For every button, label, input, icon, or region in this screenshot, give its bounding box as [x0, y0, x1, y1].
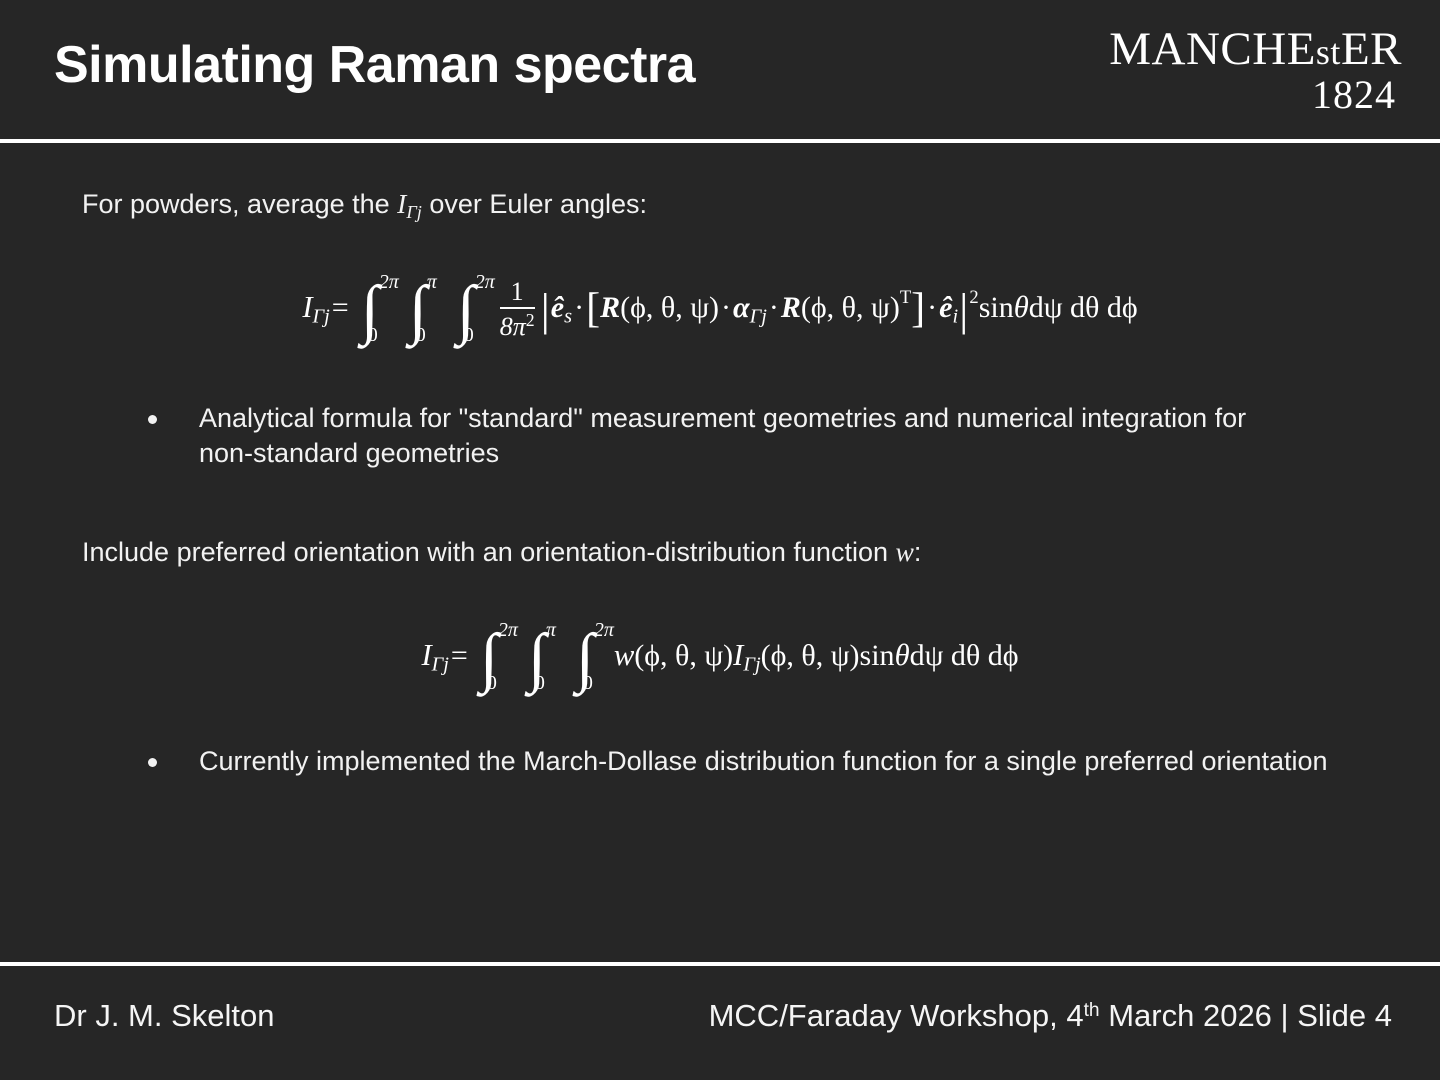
paragraph-powders: For powders, average the IΓj over Euler … [82, 185, 647, 225]
eq1-abs-open: | [541, 283, 550, 336]
eq1-polarizability: α [733, 291, 750, 324]
eq1-fraction-bar [500, 307, 535, 309]
eq2-integral-1-lower: 0 [487, 672, 497, 695]
eq1-integral-3-lower: 0 [464, 324, 474, 347]
eq1-dot-4: · [925, 291, 939, 324]
slide: Simulating Raman spectra MANCHEstER 1824… [0, 0, 1440, 1080]
paragraph-powders-before: For powders, average the [82, 189, 397, 219]
eq1-bracket-close: ] [911, 285, 925, 333]
slide-footer: Dr J. M. Skelton MCC/Faraday Workshop, 4… [0, 966, 1440, 1080]
eq2-integral-2-lower: 0 [535, 672, 545, 695]
eq2-integral-1: 2π∫0 [476, 621, 516, 695]
eq1-integral-1-upper: 2π [379, 271, 399, 294]
eq1-dot-3: · [767, 291, 781, 324]
eq1-integral-2-upper: π [427, 271, 437, 294]
logo-wordmark: MANCHEstER [1109, 26, 1402, 73]
eq2-equals: = [449, 639, 470, 672]
footer-event-ordinal: th [1084, 1000, 1100, 1021]
eq1-differentials: dψ dθ dϕ [1029, 291, 1138, 324]
eq1-fraction-denominator: 8π2 [500, 311, 535, 340]
eq1-e-incident: ê [939, 291, 952, 324]
footer-presenter: Dr J. M. Skelton [54, 998, 275, 1034]
eq1-theta: θ [1014, 290, 1029, 324]
equation-1-content: IΓj=2π∫0π∫02π∫018π2|ês·[R(ϕ, θ, ψ)·αΓj·R… [302, 273, 1137, 347]
eq1-fraction-denominator-base: 8π [500, 312, 526, 341]
eq1-prefactor-fraction: 18π2 [500, 278, 535, 340]
logo-word-part-1: M [1109, 23, 1151, 75]
eq1-lhs-subscript: Γj [313, 306, 330, 328]
eq2-integral-3-lower: 0 [583, 672, 593, 695]
footer-event-info: MCC/Faraday Workshop, 4th March 2026 | S… [709, 998, 1392, 1034]
eq1-sin: sin [979, 291, 1014, 324]
eq2-integral-2-upper: π [546, 619, 556, 642]
bullet-item-analytical-formula: Analytical formula for "standard" measur… [148, 401, 1278, 470]
eq1-fraction-numerator: 1 [500, 278, 535, 305]
paragraph-preferred-orientation-before: Include preferred orientation with an or… [82, 537, 895, 567]
eq1-rotation-matrix-2: R [781, 291, 801, 324]
equation-2-content: IΓj=2π∫0π∫02π∫0w(ϕ, θ, ψ)IΓj(ϕ, θ, ψ)sin… [421, 621, 1018, 695]
footer-event-prefix: MCC/Faraday Workshop, 4 [709, 998, 1084, 1033]
bullet-dot-icon [148, 758, 157, 767]
eq1-integral-3: 2π∫0 [453, 273, 493, 347]
eq2-odf-symbol: w [614, 638, 634, 672]
eq1-rotation-matrix-2-args: (ϕ, θ, ψ) [801, 291, 900, 324]
paragraph-preferred-orientation-after: : [914, 537, 922, 567]
eq2-sin: sin [860, 639, 895, 672]
eq1-integral-3-upper: 2π [475, 271, 495, 294]
equation-powder-average: IΓj=2π∫0π∫02π∫018π2|ês·[R(ϕ, θ, ψ)·αΓj·R… [0, 273, 1440, 347]
slide-body: For powders, average the IΓj over Euler … [0, 143, 1440, 962]
eq1-integral-2-lower: 0 [416, 324, 426, 347]
intensity-symbol-subscript: Γj [406, 202, 422, 222]
eq2-integral-1-upper: 2π [498, 619, 518, 642]
eq1-dot-1: · [572, 291, 586, 324]
eq2-intensity-subscript: Γj [743, 654, 760, 676]
footer-event-suffix: March 2026 | Slide 4 [1100, 998, 1392, 1033]
eq1-abs-close: | [959, 283, 968, 336]
eq1-lhs: I [302, 290, 312, 324]
intensity-symbol: I [397, 188, 406, 219]
page-title: Simulating Raman spectra [54, 38, 695, 93]
eq2-theta: θ [895, 638, 910, 672]
eq1-e-scattered: ê [551, 291, 564, 324]
paragraph-preferred-orientation: Include preferred orientation with an or… [82, 533, 921, 570]
eq1-integral-1-lower: 0 [368, 324, 378, 347]
university-of-manchester-logo: MANCHEstER 1824 [1109, 26, 1402, 115]
eq1-bracket-open: [ [586, 285, 600, 333]
paragraph-powders-after: over Euler angles: [422, 189, 647, 219]
eq1-rotation-matrix-1-args: (ϕ, θ, ψ) [620, 291, 719, 324]
eq1-e-incident-subscript: i [953, 306, 959, 328]
logo-word-part-2: ANCHE [1152, 23, 1316, 75]
eq2-lhs: I [421, 638, 431, 672]
eq1-fraction-denominator-exponent: 2 [526, 310, 535, 330]
eq2-odf-args: (ϕ, θ, ψ) [634, 639, 733, 672]
eq2-differentials: dψ dθ dϕ [910, 639, 1019, 672]
eq2-integral-3-upper: 2π [594, 619, 614, 642]
eq2-integral-3: 2π∫0 [572, 621, 612, 695]
eq1-rotation-matrix-1: R [600, 291, 620, 324]
eq1-rotation-matrix-2-transpose: T [900, 287, 911, 308]
eq2-integral-2: π∫0 [524, 621, 564, 695]
bullet-item-march-dollase: Currently implemented the March-Dollase … [148, 744, 1378, 779]
bullet-dot-icon [148, 415, 157, 424]
eq1-integral-1: 2π∫0 [357, 273, 397, 347]
eq1-integral-2: π∫0 [405, 273, 445, 347]
bullet-item-analytical-formula-text: Analytical formula for "standard" measur… [199, 401, 1278, 470]
logo-word-part-4: ER [1341, 23, 1402, 75]
equation-orientation-distribution: IΓj=2π∫0π∫02π∫0w(ϕ, θ, ψ)IΓj(ϕ, θ, ψ)sin… [0, 621, 1440, 695]
eq2-lhs-subscript: Γj [432, 654, 449, 676]
eq1-e-scattered-subscript: s [564, 306, 572, 328]
odf-symbol: w [895, 536, 913, 567]
logo-year: 1824 [1109, 75, 1396, 115]
bullet-item-march-dollase-text: Currently implemented the March-Dollase … [199, 744, 1328, 779]
eq2-intensity-symbol: I [733, 638, 743, 672]
slide-header: Simulating Raman spectra MANCHEstER 1824 [0, 0, 1440, 140]
eq2-intensity-args: (ϕ, θ, ψ) [761, 639, 860, 672]
logo-word-part-3: st [1316, 32, 1341, 72]
eq1-abs-exponent: 2 [969, 287, 978, 308]
eq1-dot-2: · [719, 291, 733, 324]
eq1-polarizability-subscript: Γj [750, 306, 767, 328]
eq1-equals: = [330, 291, 351, 324]
